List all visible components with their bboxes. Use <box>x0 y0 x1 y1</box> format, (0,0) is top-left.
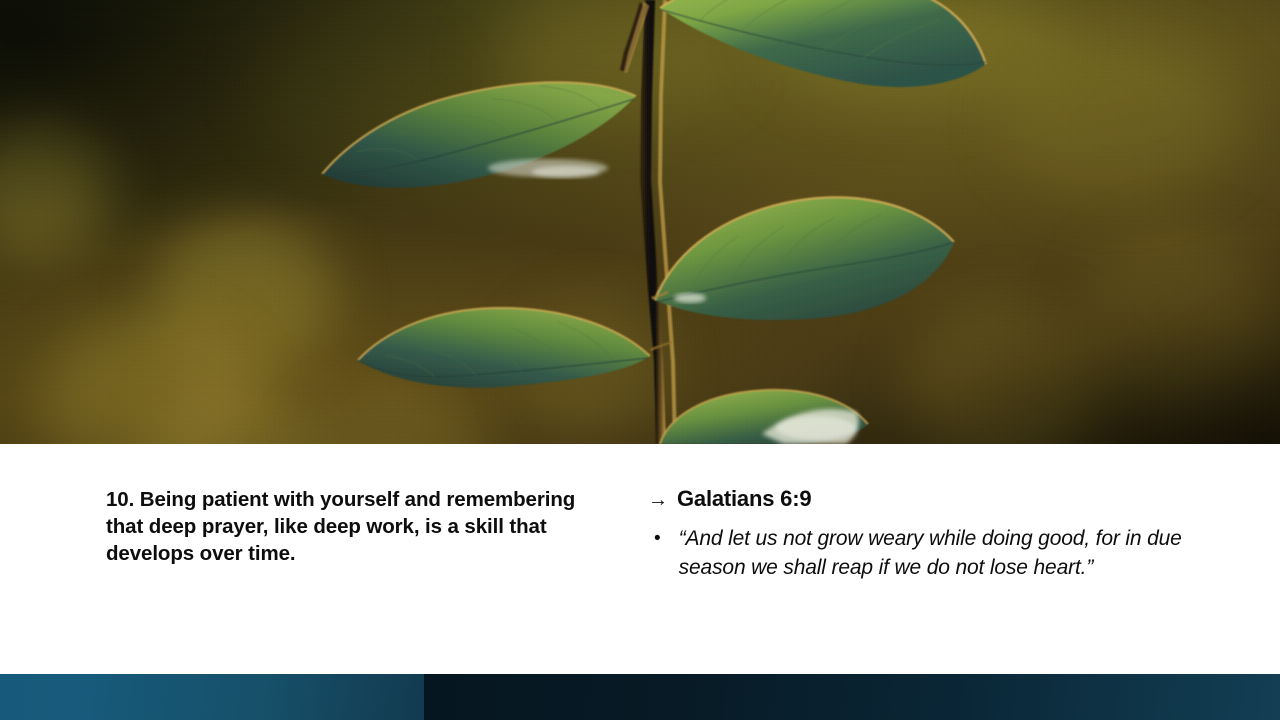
scripture-reference-heading: → Galatians 6:9 <box>648 486 1228 512</box>
footer-accent-right <box>424 674 1280 720</box>
footer-accent-left <box>0 674 424 720</box>
right-text-column: → Galatians 6:9 • “And let us not grow w… <box>648 486 1228 582</box>
left-text-column: 10. Being patient with yourself and reme… <box>106 486 576 567</box>
photo-grain-texture <box>0 0 1280 444</box>
slide-canvas: 10. Being patient with yourself and reme… <box>0 0 1280 720</box>
point-text: 10. Being patient with yourself and reme… <box>106 486 576 567</box>
hero-image <box>0 0 1280 444</box>
arrow-right-icon: → <box>648 490 668 510</box>
footer-accent-bar <box>0 674 1280 720</box>
bullet-icon: • <box>654 524 661 582</box>
verse-bullet-row: • “And let us not grow weary while doing… <box>648 524 1228 582</box>
verse-text: “And let us not grow weary while doing g… <box>679 524 1227 582</box>
scripture-reference-label: Galatians 6:9 <box>677 486 811 512</box>
slide-body: 10. Being patient with yourself and reme… <box>0 444 1280 674</box>
